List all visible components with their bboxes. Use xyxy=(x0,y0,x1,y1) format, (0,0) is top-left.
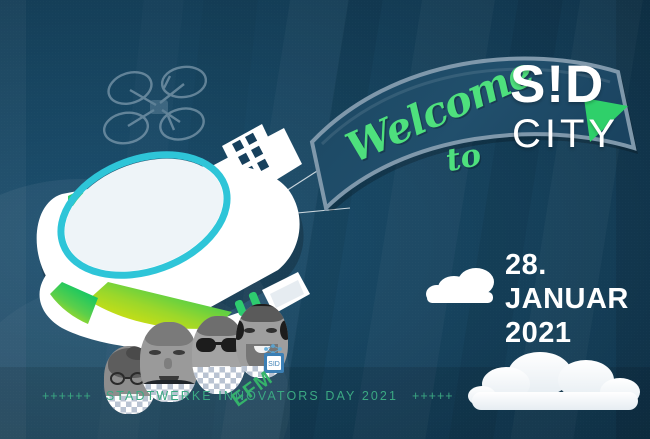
brand-city: CITY xyxy=(512,114,619,154)
date-month: JANUAR xyxy=(505,282,629,316)
footer-pluses-right: +++++ xyxy=(412,389,454,403)
date-year: 2021 xyxy=(505,316,629,350)
event-poster: Welcome to S!D CITY xyxy=(0,0,650,439)
banner-to-text: to xyxy=(443,137,485,179)
welcome-banner: Welcome to S!D CITY xyxy=(298,36,650,211)
svg-text:SID: SID xyxy=(268,361,280,368)
brand-sid: S!D xyxy=(510,60,604,110)
airplane-illustration: SID EFM xyxy=(26,122,336,372)
footer-event-name: STADTWERKE INNOVATORS DAY 2021 xyxy=(92,389,412,403)
event-date: 28. JANUAR 2021 xyxy=(505,248,629,351)
cloud-small-icon xyxy=(424,264,502,306)
footer-pluses-left: ++++++ xyxy=(42,389,92,403)
date-day: 28. xyxy=(505,248,629,282)
cloud-large-icon xyxy=(468,352,646,416)
footer-strip: ++++++STADTWERKE INNOVATORS DAY 2021++++… xyxy=(0,389,650,403)
